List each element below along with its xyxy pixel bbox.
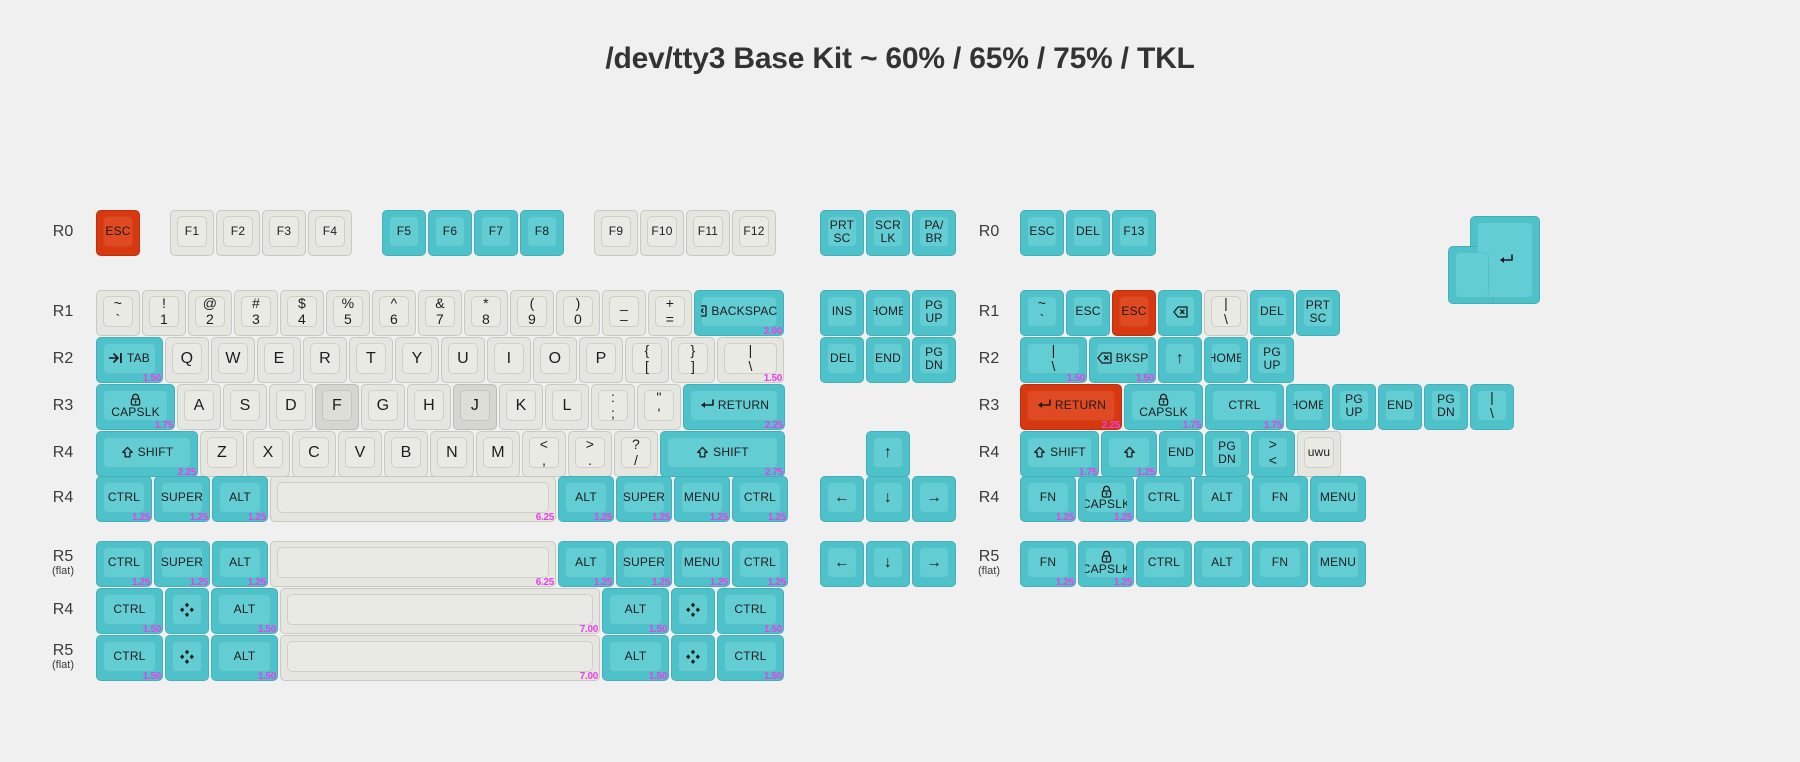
keycap-top-surface: Z [207, 437, 237, 468]
key-bottoma-3[interactable]: 6.25 [270, 476, 556, 522]
key-rightr4b-5[interactable]: MENU [1310, 476, 1366, 522]
keycap-legend-base: 6 [390, 312, 398, 327]
key-bottoma-0[interactable]: CTRL1.25 [96, 476, 152, 522]
keycap-top-surface: |\ [1211, 296, 1241, 327]
key-arrows-b-2[interactable]: → [912, 541, 956, 587]
keycap-legend: BKSP [1116, 352, 1149, 365]
keycap-legend: ALT [1211, 556, 1233, 569]
keycap-legend: CTRL [744, 491, 776, 504]
keycap-top-surface: (9 [517, 296, 547, 327]
key-row1-3[interactable]: #3 [234, 290, 278, 336]
keycap-legend-base: , [542, 453, 546, 468]
shift-icon [121, 446, 134, 459]
key-bottomd-5[interactable] [671, 635, 715, 681]
key-rightr1-2[interactable]: ESC [1112, 290, 1156, 336]
key-fnrow-5[interactable]: F5 [382, 210, 426, 256]
key-fnrow-9[interactable]: F9 [594, 210, 638, 256]
key-bottomd-1[interactable] [165, 635, 209, 681]
keycap-top-surface: H [414, 390, 444, 421]
keycap-top-surface: ESC [1073, 296, 1103, 327]
key-row3-0[interactable]: CAPSLK1.75 [96, 384, 175, 430]
keycap-top-surface: SHIFT [667, 437, 778, 468]
keycap-legend: DEL [1076, 225, 1100, 238]
keycap-top-surface: TAB [103, 343, 156, 374]
keycap-legend: L [562, 397, 571, 414]
key-rightr1-4[interactable]: |\ [1204, 290, 1248, 336]
keycap-top-surface: CTRL [103, 641, 156, 672]
keycap-top-surface: W [218, 343, 248, 374]
keycap-legend: CTRL [113, 603, 145, 616]
keycap-legend-base: ' [658, 406, 661, 421]
keycap-top-surface: F12 [739, 216, 769, 247]
keycap-unit-size-label: 1.50 [1136, 373, 1154, 384]
keycap-top-surface: F4 [315, 216, 345, 247]
key-row1-13[interactable]: BACKSPACE2.00 [694, 290, 784, 336]
key-rightr1-6[interactable]: PRT SC [1296, 290, 1340, 336]
key-row2-12[interactable]: }] [671, 337, 715, 383]
key-navr2-0[interactable]: DEL [820, 337, 864, 383]
key-rightr2-3[interactable]: HOME [1204, 337, 1248, 383]
key-row4-9[interactable]: >. [568, 431, 612, 477]
keycap-top-surface: F1 [177, 216, 207, 247]
key-row3-1[interactable]: A [177, 384, 221, 430]
key-row1-4[interactable]: $4 [280, 290, 324, 336]
key-row2-11[interactable]: {[ [625, 337, 669, 383]
key-row4-0[interactable]: SHIFT2.25 [96, 431, 198, 477]
keycap-legend-base: 3 [252, 312, 260, 327]
key-fnrow-10[interactable]: F10 [640, 210, 684, 256]
keycap-top-surface: F13 [1119, 216, 1149, 247]
key-rightr1-5[interactable]: DEL [1250, 290, 1294, 336]
keycap-top-surface: ALT [218, 641, 271, 672]
key-row1-0[interactable]: ~` [96, 290, 140, 336]
key-bottoma-7[interactable]: CTRL1.25 [732, 476, 788, 522]
keycap-legend: G [377, 397, 390, 414]
keycap-top-surface: A [184, 390, 214, 421]
keycap-unit-size-label: 2.00 [764, 326, 782, 337]
key-rightr2-0[interactable]: |\1.50 [1020, 337, 1087, 383]
keycap-unit-size-label: 1.50 [258, 624, 276, 635]
key-row1-2[interactable]: @2 [188, 290, 232, 336]
key-bottomb-0[interactable]: CTRL1.25 [96, 541, 152, 587]
key-row2-3[interactable]: E [257, 337, 301, 383]
key-navr0-0[interactable]: PRT SC [820, 210, 864, 256]
keycap-legend-shifted: % [342, 296, 355, 311]
key-bottoma-1[interactable]: SUPER1.25 [154, 476, 210, 522]
key-row3-2[interactable]: S [223, 384, 267, 430]
shift-icon [1033, 446, 1046, 459]
key-fnrow-1[interactable]: F1 [170, 210, 214, 256]
key-rightr5-4[interactable]: FN [1252, 541, 1308, 587]
keycap-top-surface: :; [598, 390, 628, 421]
keycap-legend: PG UP [1345, 393, 1363, 419]
keycap-top-surface: ~` [103, 296, 133, 327]
key-fnrow-0[interactable]: ESC [96, 210, 140, 256]
key-row1-6[interactable]: ^6 [372, 290, 416, 336]
key-rightr4b-3[interactable]: ALT [1194, 476, 1250, 522]
key-navr1-2[interactable]: PG UP [912, 290, 956, 336]
key-rightr5-0[interactable]: FN1.25 [1020, 541, 1076, 587]
key-rightr4a-5[interactable]: uwu [1297, 431, 1341, 477]
keycap-legend-shifted: ) [576, 296, 581, 311]
key-rightr4b-4[interactable]: FN [1252, 476, 1308, 522]
keycap-legend: ESC [1121, 305, 1146, 318]
keycap-legend: F8 [535, 225, 549, 238]
key-rightr3-0[interactable]: RETURN2.25 [1020, 384, 1122, 430]
key-row3-5[interactable]: G [361, 384, 405, 430]
key-bottomd-2[interactable]: ALT1.50 [211, 635, 278, 681]
keycap-top-surface: ALT [219, 547, 261, 578]
key-bottomd-3[interactable]: 7.00 [280, 635, 600, 681]
keycap-legend: FN [1040, 556, 1056, 569]
key-bottomb-7[interactable]: CTRL1.25 [732, 541, 788, 587]
keycap-legend: F11 [698, 225, 718, 238]
key-rightr4a-1[interactable]: 1.25 [1101, 431, 1157, 477]
keycap-unit-size-label: 1.50 [649, 624, 667, 635]
key-rightr2-2[interactable]: ↑ [1158, 337, 1202, 383]
key-row3-3[interactable]: D [269, 384, 313, 430]
keycap-legend: E [274, 350, 285, 367]
keycap-legend-shifted: ~ [1038, 296, 1046, 311]
key-row4-8[interactable]: <, [522, 431, 566, 477]
key-row3-12[interactable]: RETURN2.25 [683, 384, 785, 430]
keycap-legend: HOME [1293, 399, 1323, 412]
keycap-legend-shifted: | [1224, 296, 1228, 311]
keycap-top-surface: CTRL [103, 482, 145, 513]
row-label-name: R4 [979, 444, 999, 461]
key-arrows-b-1[interactable]: ↓ [866, 541, 910, 587]
keycap-legend: ↓ [884, 554, 892, 571]
key-rightr3-6[interactable]: PG DN [1424, 384, 1468, 430]
key-row2-13[interactable]: |\1.50 [717, 337, 784, 383]
keycap-legend: END [1168, 446, 1194, 459]
row-label-name: R4 [53, 444, 73, 461]
key-row2-0[interactable]: TAB1.50 [96, 337, 163, 383]
key-row4-6[interactable]: N [430, 431, 474, 477]
key-navr1-0[interactable]: INS [820, 290, 864, 336]
key-row2-6[interactable]: Y [395, 337, 439, 383]
key-rightr3-1[interactable]: CAPSLK1.75 [1124, 384, 1203, 430]
keycap-legend: F2 [231, 225, 245, 238]
keycap-legend-shifted: : [611, 390, 615, 405]
key-rightr4a-3[interactable]: PG DN [1205, 431, 1249, 477]
keycap-unit-size-label: 1.25 [1056, 512, 1074, 523]
row-label-left-3: R3 [40, 398, 86, 415]
key-row3-4[interactable]: F [315, 384, 359, 430]
keycap-legend: BACKSPACE [711, 305, 777, 318]
row-label-name: R2 [53, 350, 73, 367]
key-row2-8[interactable]: I [487, 337, 531, 383]
key-bottomd-0[interactable]: CTRL1.50 [96, 635, 163, 681]
key-rightr3-2[interactable]: CTRL1.75 [1205, 384, 1284, 430]
key-bottomc-3[interactable]: 7.00 [280, 588, 600, 634]
key-rightr0-1[interactable]: DEL [1066, 210, 1110, 256]
key-row4-1[interactable]: Z [200, 431, 244, 477]
key-rightr3-4[interactable]: PG UP [1332, 384, 1376, 430]
key-bottomc-0[interactable]: CTRL1.50 [96, 588, 163, 634]
key-rightr0-2[interactable]: F13 [1112, 210, 1156, 256]
keycap-top-surface: @2 [195, 296, 225, 327]
keycap-top-surface: F7 [481, 216, 511, 247]
key-bottomd-4[interactable]: ALT1.50 [602, 635, 669, 681]
key-row1-9[interactable]: (9 [510, 290, 554, 336]
keycap-legend: P [596, 350, 607, 367]
keycap-top-surface: |\ [1027, 343, 1080, 374]
key-row3-7[interactable]: J [453, 384, 497, 430]
keycap-legend-shifted: < [540, 437, 548, 452]
key-bottomb-4[interactable]: ALT1.25 [558, 541, 614, 587]
keycap-unit-size-label: 1.25 [652, 577, 670, 588]
keycap-top-surface: ALT [218, 594, 271, 625]
key-row2-7[interactable]: U [441, 337, 485, 383]
key-bottomc-2[interactable]: ALT1.50 [211, 588, 278, 634]
keycap-unit-size-label: 1.25 [132, 512, 150, 523]
key-rightr3-3[interactable]: HOME [1286, 384, 1330, 430]
key-fnrow-4[interactable]: F4 [308, 210, 352, 256]
keycap-top-surface: PRT SC [827, 216, 857, 247]
keycap-legend-shifted: > [586, 437, 594, 452]
keycap-legend: Y [412, 350, 423, 367]
row-label-left-1: R1 [40, 304, 86, 321]
keycap-top-surface: F9 [601, 216, 631, 247]
key-bottomc-6[interactable]: CTRL1.50 [717, 588, 784, 634]
keycap-top-surface: CAPSLK [1085, 482, 1127, 513]
key-row1-1[interactable]: !1 [142, 290, 186, 336]
key-row2-4[interactable]: R [303, 337, 347, 383]
keycap-top-surface: END [1385, 390, 1415, 421]
row-label-name: R3 [979, 397, 999, 414]
keycap-top-surface: ALT [565, 482, 607, 513]
iso-enter-key[interactable] [1448, 216, 1540, 304]
keycap-legend: RETURN [718, 399, 769, 412]
row-label-left-0: R0 [40, 224, 86, 241]
key-bottomb-1[interactable]: SUPER1.25 [154, 541, 210, 587]
keycap-legend: U [457, 350, 469, 367]
key-fnrow-12[interactable]: F12 [732, 210, 776, 256]
key-bottomc-1[interactable] [165, 588, 209, 634]
keycap-top-surface: PG DN [919, 343, 949, 374]
keycap-top-surface: SUPER [161, 547, 203, 578]
keycap-top-surface: S [230, 390, 260, 421]
keycap-unit-size-label: 1.25 [768, 512, 786, 523]
key-row4-4[interactable]: V [338, 431, 382, 477]
key-rightr1-0[interactable]: ~` [1020, 290, 1064, 336]
key-arrows-b-0[interactable]: ← [820, 541, 864, 587]
keycap-legend: SHIFT [138, 446, 174, 459]
keycap-top-surface: Y [402, 343, 432, 374]
keycap-legend: ESC [1029, 225, 1054, 238]
key-navr0-1[interactable]: SCR LK [866, 210, 910, 256]
keycap-layout-board: ESCF1F2F3F4F5F6F7F8F9F10F11F12PRT SCSCR … [0, 76, 1800, 762]
keycap-legend: S [240, 397, 251, 414]
keycap-top-surface: F5 [389, 216, 419, 247]
key-bottomc-4[interactable]: ALT1.50 [602, 588, 669, 634]
keycap-legend: K [516, 397, 527, 414]
key-row2-2[interactable]: W [211, 337, 255, 383]
keycap-legend-shifted: | [1490, 390, 1494, 405]
key-fnrow-2[interactable]: F2 [216, 210, 260, 256]
keycap-legend: ALT [625, 603, 647, 616]
key-rightr5-3[interactable]: ALT [1194, 541, 1250, 587]
key-rightr3-7[interactable]: |\ [1470, 384, 1514, 430]
keycap-legend: F10 [651, 225, 672, 238]
keycap-legend-base: 0 [574, 312, 582, 327]
key-row3-6[interactable]: H [407, 384, 451, 430]
key-arrowup-a[interactable]: ↑ [866, 431, 910, 477]
keycap-legend: T [366, 350, 376, 367]
key-row3-11[interactable]: "' [637, 384, 681, 430]
keycap-top-surface: K [506, 390, 536, 421]
key-rightr5-5[interactable]: MENU [1310, 541, 1366, 587]
key-rightr4b-2[interactable]: CTRL [1136, 476, 1192, 522]
key-row1-7[interactable]: &7 [418, 290, 462, 336]
key-rightr4b-0[interactable]: FN1.25 [1020, 476, 1076, 522]
key-arrows-a-0[interactable]: ← [820, 476, 864, 522]
keycap-legend: F13 [1123, 225, 1144, 238]
keycap-top-surface: ESC [1027, 216, 1057, 247]
keycap-top-surface: PG UP [1257, 343, 1287, 374]
shift-icon [696, 446, 709, 459]
key-row4-5[interactable]: B [384, 431, 428, 477]
keycap-legend: ← [834, 489, 850, 506]
key-rightr5-2[interactable]: CTRL [1136, 541, 1192, 587]
key-row1-11[interactable]: _– [602, 290, 646, 336]
keycap-top-surface: SUPER [161, 482, 203, 513]
keycap-legend: → [926, 554, 942, 571]
keycap-unit-size-label: 1.50 [764, 624, 782, 635]
key-row1-8[interactable]: *8 [464, 290, 508, 336]
key-rightr1-3[interactable] [1158, 290, 1202, 336]
key-row2-10[interactable]: P [579, 337, 623, 383]
keycap-legend: END [1387, 399, 1413, 412]
keycap-legend: FN [1272, 556, 1288, 569]
keycap-legend: MENU [684, 491, 720, 504]
keycap-unit-size-label: 6.25 [536, 512, 554, 523]
keycap-top-surface: ↑ [1165, 343, 1195, 374]
keycap-top-surface: L [552, 390, 582, 421]
key-rightr2-4[interactable]: PG UP [1250, 337, 1294, 383]
keycap-legend: ← [834, 554, 850, 571]
keycap-unit-size-label: 1.50 [143, 624, 161, 635]
row-label-name: R4 [979, 489, 999, 506]
key-rightr4b-1[interactable]: CAPSLK1.25 [1078, 476, 1134, 522]
key-fnrow-8[interactable]: F8 [520, 210, 564, 256]
keycap-top-surface: |\ [1477, 390, 1507, 421]
key-bottomb-2[interactable]: ALT1.25 [212, 541, 268, 587]
keycap-top-surface: ALT [565, 547, 607, 578]
keycap-legend: SUPER [623, 491, 665, 504]
key-rightr5-1[interactable]: CAPSLK1.25 [1078, 541, 1134, 587]
keycap-top-surface: FN [1259, 482, 1301, 513]
key-row2-9[interactable]: O [533, 337, 577, 383]
key-rightr4a-0[interactable]: SHIFT1.75 [1020, 431, 1099, 477]
keycap-top-surface: >. [575, 437, 605, 468]
keycap-legend-base: ; [611, 406, 615, 421]
key-row2-1[interactable]: Q [165, 337, 209, 383]
key-row3-8[interactable]: K [499, 384, 543, 430]
key-rightr0-0[interactable]: ESC [1020, 210, 1064, 256]
keycap-legend-base: 2 [206, 312, 214, 327]
keycap-top-surface: <, [529, 437, 559, 468]
keycap-top-surface [287, 594, 593, 625]
key-bottomc-5[interactable] [671, 588, 715, 634]
key-row1-5[interactable]: %5 [326, 290, 370, 336]
key-arrows-a-1[interactable]: ↓ [866, 476, 910, 522]
key-rightr2-1[interactable]: BKSP1.50 [1089, 337, 1156, 383]
backspace-icon [1173, 306, 1188, 318]
super-diamond-icon [178, 649, 196, 665]
keycap-legend-base: ` [116, 312, 121, 327]
key-fnrow-11[interactable]: F11 [686, 210, 730, 256]
keycap-top-surface: ?/ [621, 437, 651, 468]
keycap-legend-shifted: | [749, 343, 753, 358]
key-row1-10[interactable]: )0 [556, 290, 600, 336]
key-row4-2[interactable]: X [246, 431, 290, 477]
keycap-legend: N [446, 444, 458, 461]
key-row4-7[interactable]: M [476, 431, 520, 477]
key-navr2-2[interactable]: PG DN [912, 337, 956, 383]
keycap-legend: I [507, 350, 512, 367]
keycap-top-surface: >< [1258, 437, 1288, 468]
key-row3-10[interactable]: :; [591, 384, 635, 430]
key-bottomb-3[interactable]: 6.25 [270, 541, 556, 587]
key-fnrow-3[interactable]: F3 [262, 210, 306, 256]
keycap-unit-size-label: 1.25 [1114, 577, 1132, 588]
key-arrows-a-2[interactable]: → [912, 476, 956, 522]
keycap-top-surface [678, 594, 708, 625]
keycap-unit-size-label: 1.50 [143, 373, 161, 384]
key-bottomb-6[interactable]: MENU1.25 [674, 541, 730, 587]
keycap-top-surface: F6 [435, 216, 465, 247]
keycap-top-surface: F10 [647, 216, 677, 247]
key-row1-12[interactable]: += [648, 290, 692, 336]
key-bottomb-5[interactable]: SUPER1.25 [616, 541, 672, 587]
key-fnrow-7[interactable]: F7 [474, 210, 518, 256]
keycap-legend: ALT [234, 603, 256, 616]
key-rightr4a-4[interactable]: >< [1251, 431, 1295, 477]
key-rightr1-1[interactable]: ESC [1066, 290, 1110, 336]
key-rightr3-5[interactable]: END [1378, 384, 1422, 430]
key-navr2-1[interactable]: END [866, 337, 910, 383]
key-row4-10[interactable]: ?/ [614, 431, 658, 477]
key-row2-5[interactable]: T [349, 337, 393, 383]
keycap-top-surface [1165, 296, 1195, 327]
key-row4-3[interactable]: C [292, 431, 336, 477]
row-label-name: R5 [979, 548, 999, 565]
keycap-unit-size-label: 1.25 [594, 512, 612, 523]
keycap-legend: ALT [229, 491, 251, 504]
key-navr0-2[interactable]: PA/ BR [912, 210, 956, 256]
key-rightr4a-2[interactable]: END [1159, 431, 1203, 477]
key-row3-9[interactable]: L [545, 384, 589, 430]
keycap-legend: CTRL [108, 491, 140, 504]
key-bottoma-5[interactable]: SUPER1.25 [616, 476, 672, 522]
keycap-top-surface: {[ [632, 343, 662, 374]
keycap-unit-size-label: 1.50 [764, 373, 782, 384]
key-bottoma-6[interactable]: MENU1.25 [674, 476, 730, 522]
key-fnrow-6[interactable]: F6 [428, 210, 472, 256]
keycap-top-surface: → [919, 482, 949, 513]
keycap-legend: SUPER [623, 556, 665, 569]
keycap-top-surface: ALT [609, 641, 662, 672]
keycap-legend: CAPSLK [1139, 406, 1188, 419]
key-bottoma-2[interactable]: ALT1.25 [212, 476, 268, 522]
keycap-legend: F6 [443, 225, 457, 238]
key-navr1-1[interactable]: HOME [866, 290, 910, 336]
key-bottoma-4[interactable]: ALT1.25 [558, 476, 614, 522]
key-bottomd-6[interactable]: CTRL1.50 [717, 635, 784, 681]
key-row4-11[interactable]: SHIFT2.75 [660, 431, 785, 477]
